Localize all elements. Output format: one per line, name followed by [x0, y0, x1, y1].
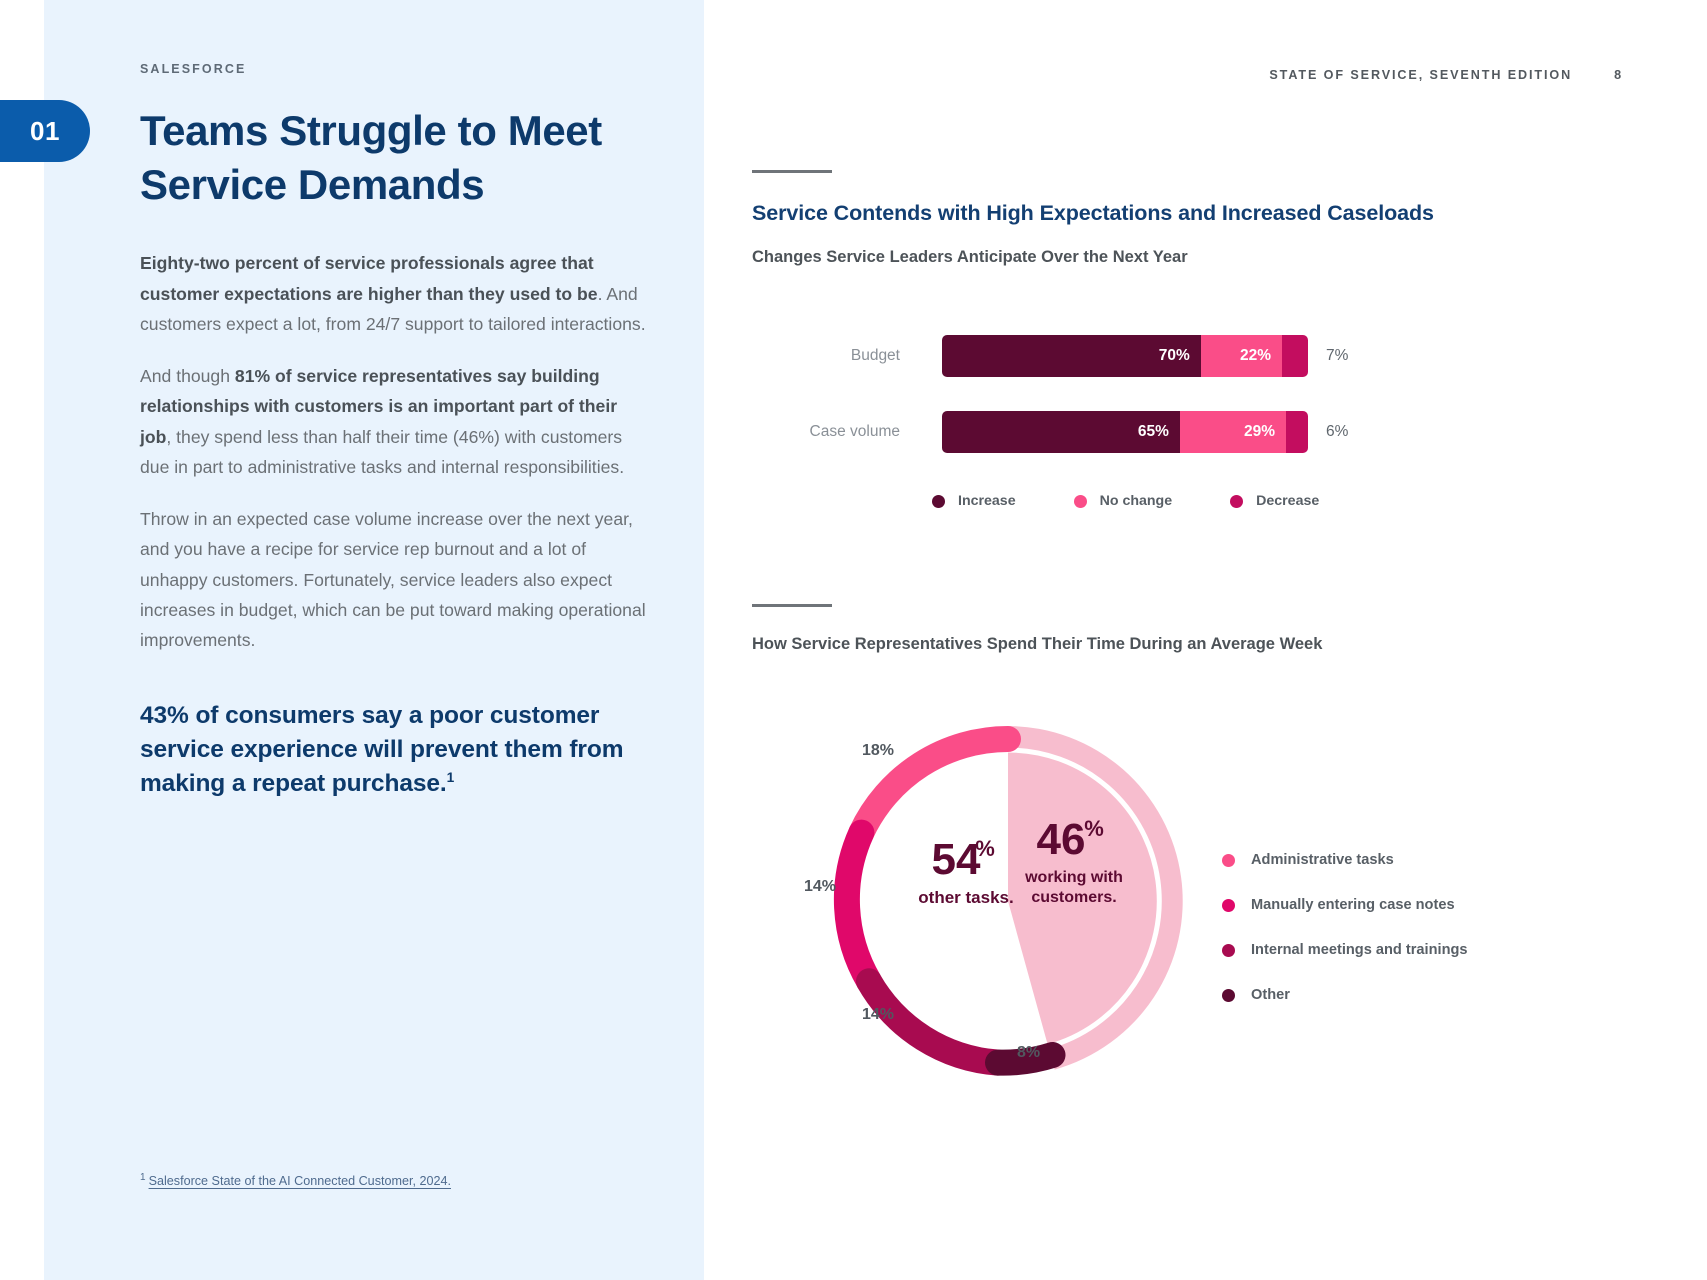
highlight-statistic: 43% of consumers say a poor customer ser…	[140, 699, 650, 801]
legend-dot-icon	[1074, 495, 1087, 508]
bar-segment-no-change-value: 22%	[1240, 347, 1282, 365]
bar-segment-decrease: 6%	[1286, 411, 1308, 453]
donut-chart: 54 % other tasks. 46 % working with cust…	[752, 706, 1542, 1096]
document-header: STATE OF SERVICE, SEVENTH EDITION 8	[1269, 68, 1623, 82]
donut-center-54-unit: %	[975, 836, 995, 861]
section-1-subtitle: Changes Service Leaders Anticipate Over …	[752, 248, 1434, 267]
bar-row: Case volume 65% 29% 6% 6%	[752, 409, 1434, 455]
highlight-statistic-footnote-marker: 1	[447, 770, 455, 785]
left-margin-rail	[0, 0, 44, 1280]
legend-item-administrative-tasks: Administrative tasks	[1222, 852, 1468, 868]
legend-item-case-notes: Manually entering case notes	[1222, 897, 1468, 913]
legend-dot-icon	[932, 495, 945, 508]
donut-center-54-caption: other tasks.	[918, 888, 1013, 907]
legend-label: Administrative tasks	[1251, 852, 1394, 868]
donut-center-46-caption-line2: customers.	[1031, 889, 1116, 906]
legend-item-other: Other	[1222, 987, 1468, 1003]
legend-item-no-change: No change	[1074, 493, 1173, 509]
chapter-intro-content: SALESFORCE Teams Struggle to Meet Servic…	[44, 62, 704, 801]
legend-dot-icon	[1222, 989, 1235, 1002]
bar-segment-increase-value: 70%	[1159, 347, 1201, 365]
donut-center-46-caption-line1: working with	[1024, 869, 1123, 886]
page-number: 8	[1614, 68, 1623, 82]
legend-label: Increase	[958, 493, 1016, 509]
legend-dot-icon	[1222, 944, 1235, 957]
section-rule-2	[752, 604, 832, 607]
body-paragraph-1-bold: Eighty-two percent of service profession…	[140, 253, 598, 303]
body-paragraph-2-rest: , they spend less than half their time (…	[140, 427, 624, 477]
section-rule-1	[752, 170, 832, 173]
donut-center-46-value: 46	[1037, 815, 1086, 864]
section-2-title: How Service Representatives Spend Their …	[752, 635, 1542, 654]
charts-panel: STATE OF SERVICE, SEVENTH EDITION 8 Serv…	[704, 0, 1707, 1280]
bar-category-label: Budget	[752, 347, 942, 365]
highlight-statistic-text: 43% of consumers say a poor customer ser…	[140, 702, 623, 797]
donut-chart-svg: 54 % other tasks. 46 % working with cust…	[808, 706, 1208, 1096]
legend-dot-icon	[1222, 899, 1235, 912]
body-paragraph-1: Eighty-two percent of service profession…	[140, 248, 650, 339]
body-paragraph-2: And though 81% of service representative…	[140, 361, 650, 482]
legend-label: Decrease	[1256, 493, 1319, 509]
bar-segment-increase: 70%	[942, 335, 1201, 377]
footnote-marker: 1	[140, 1172, 146, 1183]
bar-segment-decrease: 7%	[1282, 335, 1308, 377]
page-title: Teams Struggle to Meet Service Demands	[140, 104, 650, 212]
donut-chart-legend: Administrative tasks Manually entering c…	[1222, 852, 1468, 1032]
body-paragraph-3: Throw in an expected case volume increas…	[140, 504, 650, 655]
bar-segment-increase: 65%	[942, 411, 1180, 453]
legend-dot-icon	[1222, 854, 1235, 867]
document-title: STATE OF SERVICE, SEVENTH EDITION	[1269, 68, 1572, 82]
bar-segment-no-change-value: 29%	[1244, 423, 1286, 441]
donut-label-administrative-tasks: 18%	[862, 742, 894, 760]
bar-category-label: Case volume	[752, 423, 942, 441]
legend-label: Internal meetings and trainings	[1251, 942, 1468, 958]
bar-chart-legend: Increase No change Decrease	[932, 493, 1434, 509]
legend-item-internal-meetings: Internal meetings and trainings	[1222, 942, 1468, 958]
bar-track: 70% 22% 7%	[942, 335, 1308, 377]
bar-outside-label: 6%	[1326, 423, 1348, 441]
legend-item-decrease: Decrease	[1230, 493, 1319, 509]
body-paragraph-2-lead: And though	[140, 366, 235, 386]
donut-center-46-unit: %	[1084, 816, 1104, 841]
chapter-number-label: 01	[30, 116, 60, 147]
footnote-source-link[interactable]: Salesforce State of the AI Connected Cus…	[149, 1174, 451, 1188]
legend-label: Other	[1251, 987, 1290, 1003]
legend-label: Manually entering case notes	[1251, 897, 1455, 913]
section-expectations-caseloads: Service Contends with High Expectations …	[752, 170, 1434, 509]
bar-segment-increase-value: 65%	[1138, 423, 1180, 441]
brand-eyebrow: SALESFORCE	[140, 62, 650, 76]
stacked-bar-chart: Budget 70% 22% 7% 7%	[752, 333, 1434, 509]
chapter-number-badge: 01	[0, 100, 90, 162]
donut-label-internal-meetings: 14%	[862, 1006, 894, 1024]
legend-label: No change	[1100, 493, 1173, 509]
document-page: 01 SALESFORCE Teams Struggle to Meet Ser…	[0, 0, 1707, 1280]
donut-label-case-notes: 14%	[804, 878, 836, 896]
bar-segment-no-change: 22%	[1201, 335, 1282, 377]
section-1-title: Service Contends with High Expectations …	[752, 201, 1434, 226]
donut-center-54-value: 54	[932, 835, 981, 884]
section-time-spent: How Service Representatives Spend Their …	[752, 604, 1542, 1096]
bar-track: 65% 29% 6%	[942, 411, 1308, 453]
donut-arc-case-notes	[847, 833, 869, 982]
footnote: 1Salesforce State of the AI Connected Cu…	[140, 1172, 451, 1188]
donut-label-other: 8%	[1017, 1044, 1040, 1062]
bar-row: Budget 70% 22% 7% 7%	[752, 333, 1434, 379]
legend-item-increase: Increase	[932, 493, 1016, 509]
bar-outside-label: 7%	[1326, 347, 1348, 365]
bar-segment-no-change: 29%	[1180, 411, 1286, 453]
chapter-intro-panel: 01 SALESFORCE Teams Struggle to Meet Ser…	[44, 0, 704, 1280]
legend-dot-icon	[1230, 495, 1243, 508]
